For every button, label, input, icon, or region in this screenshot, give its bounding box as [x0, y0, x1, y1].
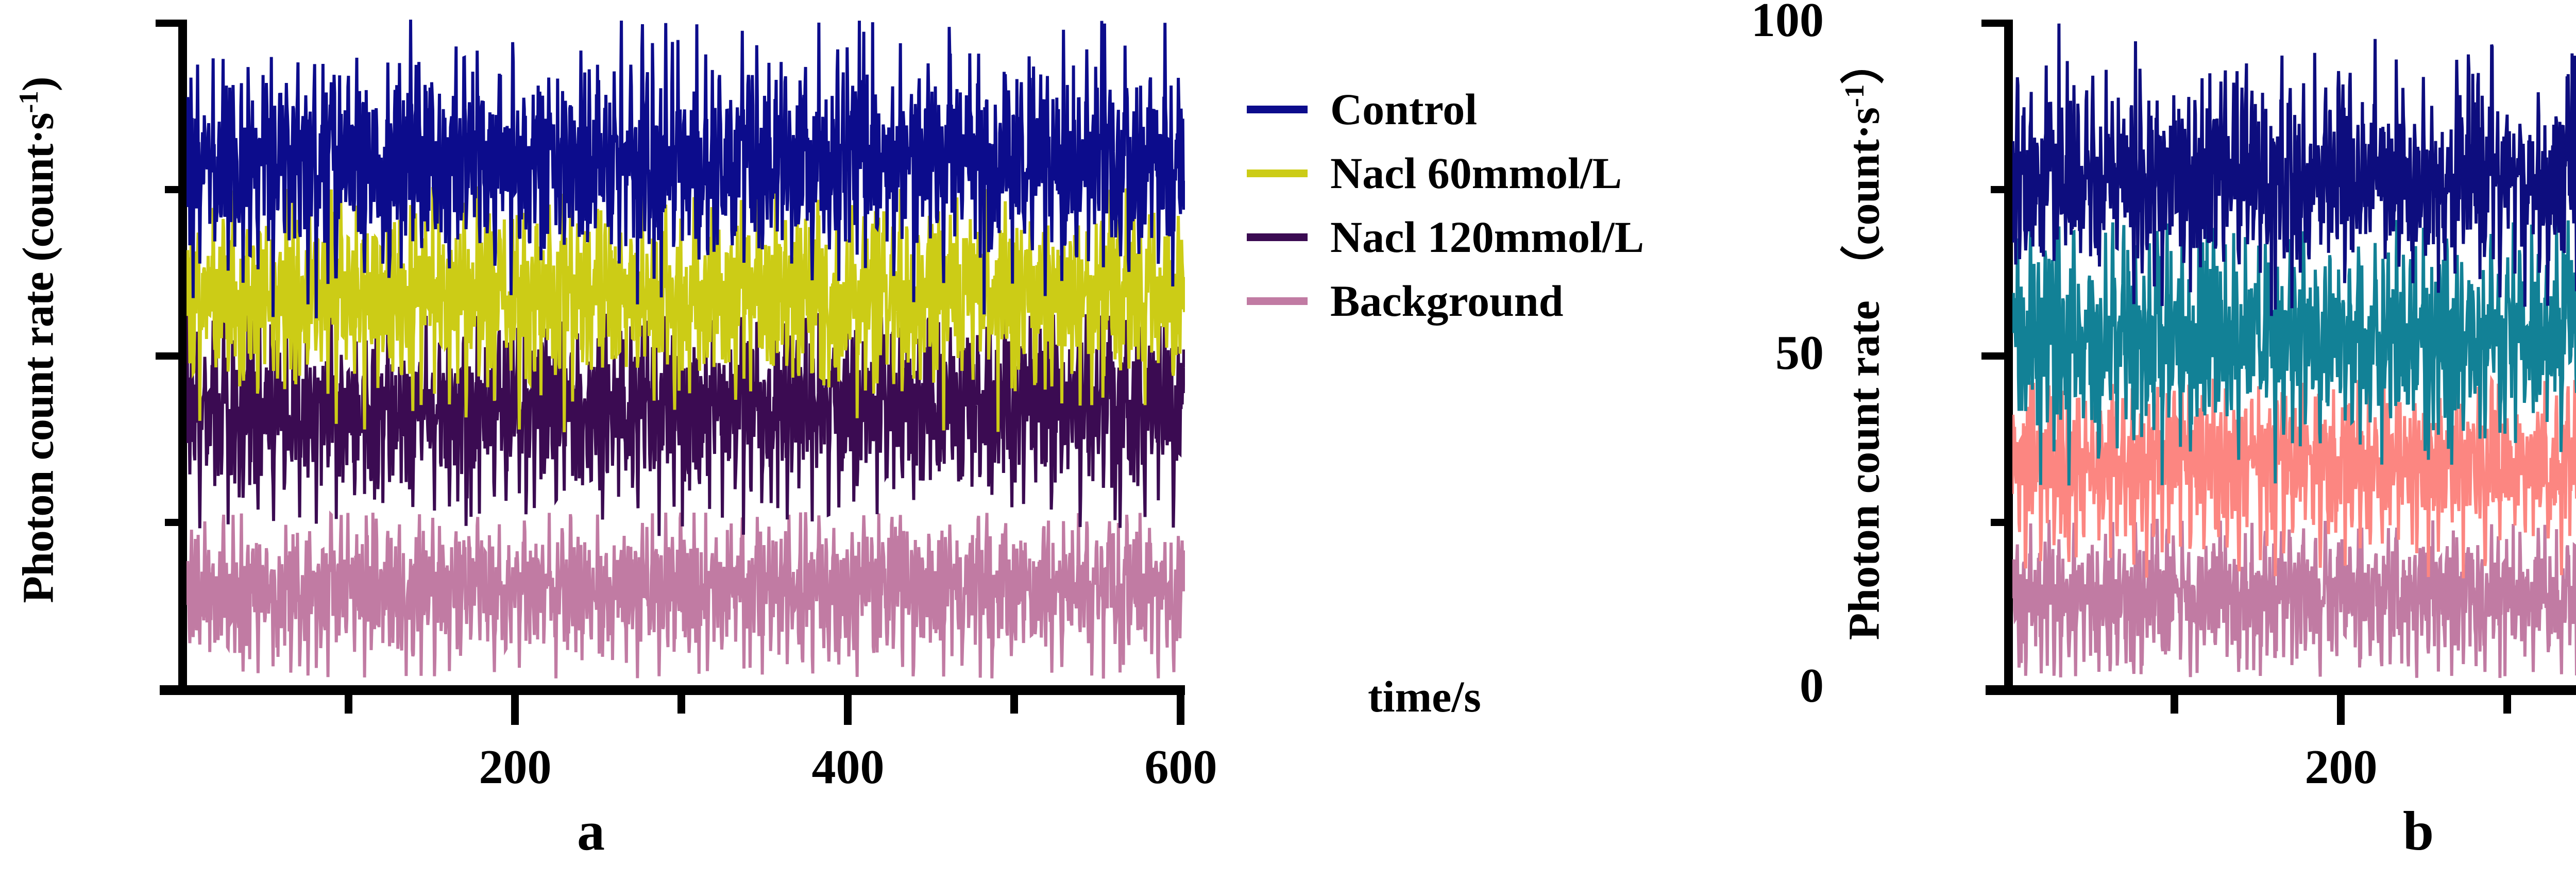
panel-b-xtick-200 — [2337, 695, 2345, 725]
panel-b-ytick-100 — [1981, 20, 2004, 27]
legend-item[interactable]: Nacl 120mmol/L — [1247, 205, 1644, 269]
panel-a-trace-area — [187, 20, 1185, 685]
legend-item-label: Control — [1330, 87, 1477, 131]
panel-a-xtick-300 — [677, 695, 685, 714]
panel-b-letter: b — [2403, 804, 2434, 859]
panel-a-xtick-label-600: 600 — [1104, 743, 1258, 791]
legend-swatch-icon — [1247, 106, 1308, 113]
legend-swatch-icon — [1247, 233, 1308, 241]
panel-a: Photon count rate (count·s-1) 100 50 0 — [0, 0, 1825, 881]
legend-item[interactable]: Nacl 60mmol/L — [1247, 141, 1644, 205]
panel-a-legend: Control Nacl 60mmol/L Nacl 120mmol/L Bac… — [1247, 77, 1644, 333]
panel-a-y-axis-spine — [178, 20, 187, 685]
legend-item-label: Background — [1330, 279, 1563, 323]
panel-b-plot-box: 100 50 0 200 400 600 time/s — [1986, 20, 2576, 685]
panel-a-x-axis-title: time/s — [1368, 671, 1481, 722]
panel-b-ytick-75 — [1991, 186, 2004, 193]
figure-root: Photon count rate (count·s-1) 100 50 0 — [0, 0, 2576, 881]
panel-b-ytick-25 — [1991, 519, 2004, 526]
panel-a-plot-box: 100 50 0 200 400 600 — [160, 20, 1185, 685]
panel-a-ytick-50 — [156, 352, 178, 360]
panel-b-ytick-label-0: 0 — [1700, 662, 1824, 710]
series-trace — [187, 512, 1184, 679]
panel-b-x-axis-spine — [1986, 685, 2576, 695]
panel-a-x-axis-spine — [160, 685, 1185, 695]
panel-b-xtick-label-200: 200 — [2264, 743, 2418, 791]
panel-a-xtick-label-200: 200 — [438, 743, 592, 791]
panel-a-ytick-75 — [165, 186, 178, 193]
series-trace — [2012, 519, 2576, 678]
panel-b-ytick-label-100: 100 — [1700, 0, 1824, 44]
panel-a-xtick-400 — [844, 695, 852, 725]
panel-a-xtick-100 — [345, 695, 352, 714]
legend-item[interactable]: Control — [1247, 77, 1644, 141]
panel-b-xtick-300 — [2503, 695, 2511, 714]
panel-b-ytick-50 — [1981, 352, 2004, 360]
panel-a-xtick-600 — [1177, 695, 1184, 725]
legend-swatch-icon — [1247, 170, 1308, 177]
panel-b-trace-area — [2012, 20, 2576, 685]
panel-a-letter: a — [577, 804, 605, 859]
legend-swatch-icon — [1247, 297, 1308, 305]
panel-b-y-axis-spine — [2004, 20, 2013, 685]
panel-b-ytick-label-50: 50 — [1700, 329, 1824, 377]
legend-item-label: Nacl 120mmol/L — [1330, 215, 1644, 259]
panel-a-ytick-25 — [165, 519, 178, 526]
panel-a-ytick-100 — [156, 20, 178, 27]
panel-b-xtick-100 — [2171, 695, 2178, 714]
panel-a-y-axis-title: Photon count rate (count·s-1) — [0, 5, 57, 675]
panel-a-xtick-200 — [511, 695, 519, 725]
panel-b-y-axis-title: Photon count rate （count·s-1） — [1826, 5, 1883, 675]
panel-b: Photon count rate （count·s-1） 100 50 0 2… — [1826, 0, 2576, 881]
legend-item[interactable]: Background — [1247, 269, 1644, 333]
panel-a-xtick-500 — [1010, 695, 1018, 714]
legend-item-label: Nacl 60mmol/L — [1330, 151, 1622, 195]
panel-a-xtick-label-400: 400 — [771, 743, 925, 791]
